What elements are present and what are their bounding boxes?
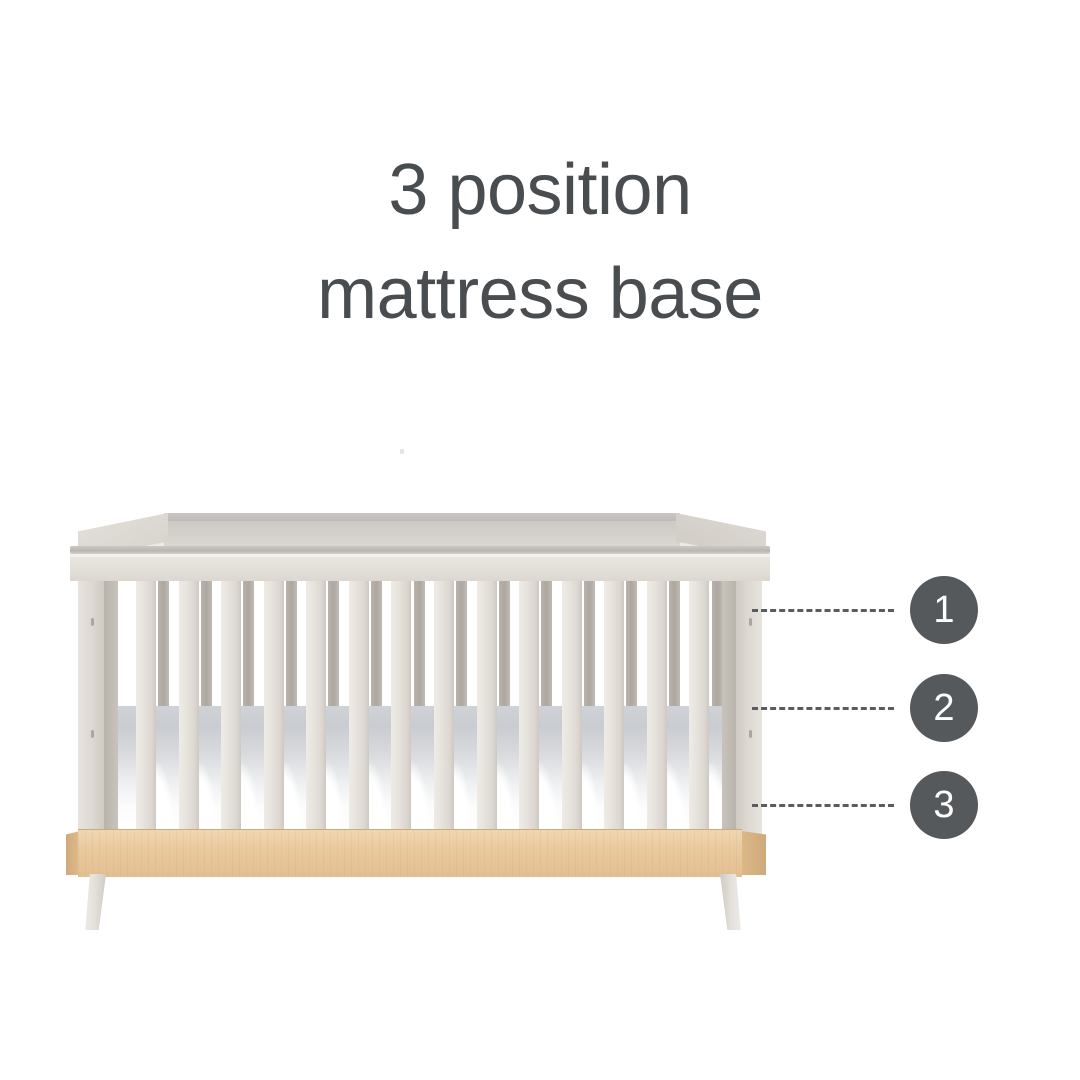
- crib-front-slat: [179, 581, 199, 841]
- crib-mattress: [118, 706, 722, 836]
- callout-dashed-line-1: [752, 609, 894, 612]
- crib-front-slat: [391, 581, 411, 841]
- crib-post-inner-left: [104, 560, 118, 836]
- callout-dashed-line-2: [752, 707, 894, 710]
- crib-product-image: [60, 500, 780, 920]
- crib-post-inner-right: [722, 560, 736, 836]
- crib-front-slat: [647, 581, 667, 841]
- crib-front-slat: [221, 581, 241, 841]
- crib-leg-left: [80, 874, 106, 930]
- callout-row-2: 2: [752, 674, 984, 742]
- crib-front-slat: [689, 581, 709, 841]
- crib-post-left: [78, 557, 104, 841]
- crib-front-rail-gap: [70, 554, 770, 557]
- crib-screw-hole: [91, 618, 94, 626]
- crib-front-slat: [434, 581, 454, 841]
- crib-front-slat: [306, 581, 326, 841]
- callout-dashed-line-3: [752, 804, 894, 807]
- page-title: 3 position mattress base: [0, 138, 1080, 346]
- crib-front-slat: [349, 581, 369, 841]
- crib-screw-hole: [91, 730, 94, 738]
- crib-front-slat: [562, 581, 582, 841]
- crib-front-rail-cap: [70, 546, 770, 554]
- crib-front-rail-body: [70, 557, 770, 581]
- callout-row-3: 3: [752, 771, 984, 839]
- callout-badge-3[interactable]: 3: [910, 771, 978, 839]
- crib-front-slat: [264, 581, 284, 841]
- callout-badge-2[interactable]: 2: [910, 674, 978, 742]
- crib-wood-base-panel: [78, 829, 742, 877]
- crib-front-slat: [604, 581, 624, 841]
- crib-leg-right: [720, 874, 746, 930]
- crib-front-slat: [136, 581, 156, 841]
- callout-row-1: 1: [752, 576, 984, 644]
- product-feature-graphic: 3 position mattress base: [0, 0, 1080, 1080]
- page-title-line-2: mattress base: [0, 242, 1080, 346]
- crib-front-slat: [477, 581, 497, 841]
- callout-badge-1[interactable]: 1: [910, 576, 978, 644]
- image-speck-artifact: [400, 449, 404, 454]
- page-title-line-1: 3 position: [0, 138, 1080, 242]
- crib-front-slat: [519, 581, 539, 841]
